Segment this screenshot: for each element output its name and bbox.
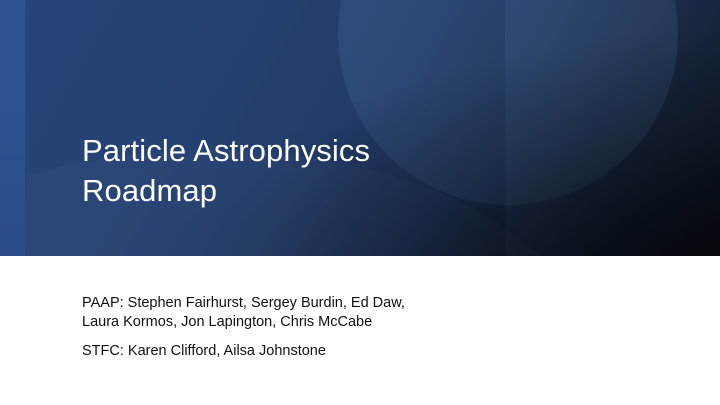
credit-line-stfc: STFC: Karen Clifford, Ailsa Johnstone (82, 342, 642, 361)
title-slide: Particle Astrophysics Roadmap PAAP: Step… (0, 0, 720, 405)
slide-title: Particle Astrophysics Roadmap (82, 131, 502, 211)
left-accent-strip (0, 0, 25, 256)
credits-block: PAAP: Stephen Fairhurst, Sergey Burdin, … (82, 294, 642, 361)
title-block: Particle Astrophysics Roadmap (82, 131, 502, 211)
banner-vignette (0, 0, 720, 256)
credit-line-paap: PAAP: Stephen Fairhurst, Sergey Burdin, … (82, 294, 642, 332)
slide-banner (0, 0, 720, 256)
